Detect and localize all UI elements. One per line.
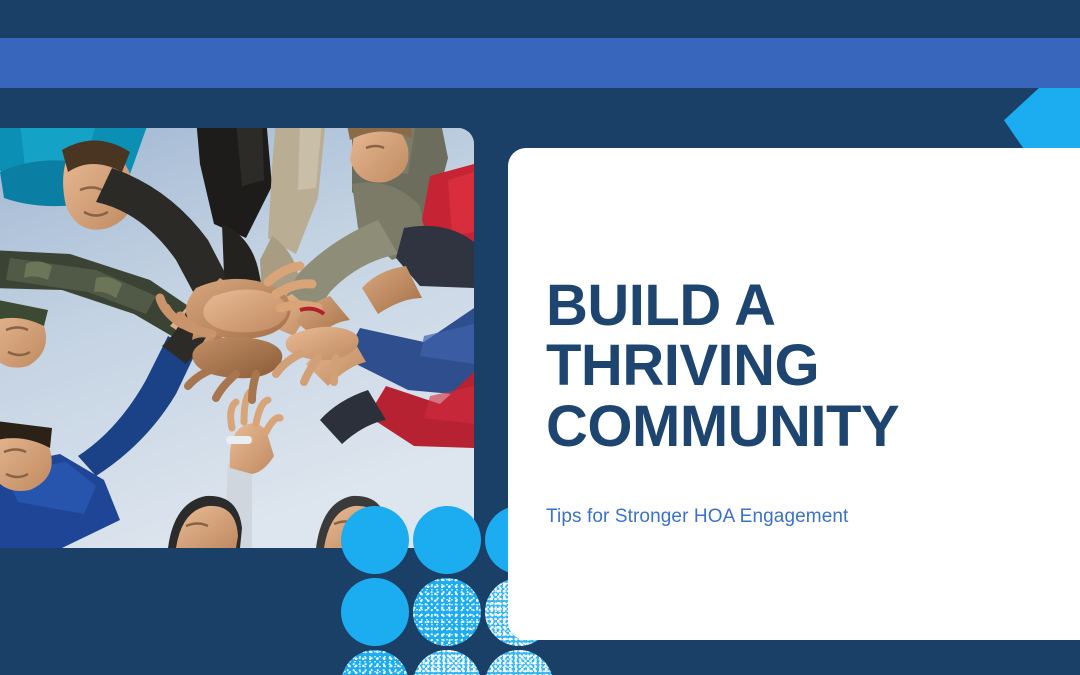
page-subtitle: Tips for Stronger HOA Engagement: [546, 506, 1040, 528]
decor-circle: [413, 650, 481, 675]
hero-photo: [0, 128, 474, 548]
decor-circle: [341, 578, 409, 646]
decor-circle: [341, 650, 409, 675]
top-banner-stripe: [0, 38, 1080, 88]
slide-canvas: Build a Thriving Community Tips for Stro…: [0, 0, 1080, 675]
decor-circle: [413, 506, 481, 574]
hero-photo-illustration: [0, 128, 474, 548]
decor-circle: [413, 578, 481, 646]
card-content: Build a Thriving Community Tips for Stro…: [546, 276, 1040, 528]
decor-circle: [485, 650, 553, 675]
decor-circle: [341, 506, 409, 574]
content-card: Build a Thriving Community Tips for Stro…: [508, 148, 1080, 640]
cyan-arrow-accent-icon: [1004, 88, 1080, 150]
page-title: Build a Thriving Community: [546, 276, 1040, 457]
